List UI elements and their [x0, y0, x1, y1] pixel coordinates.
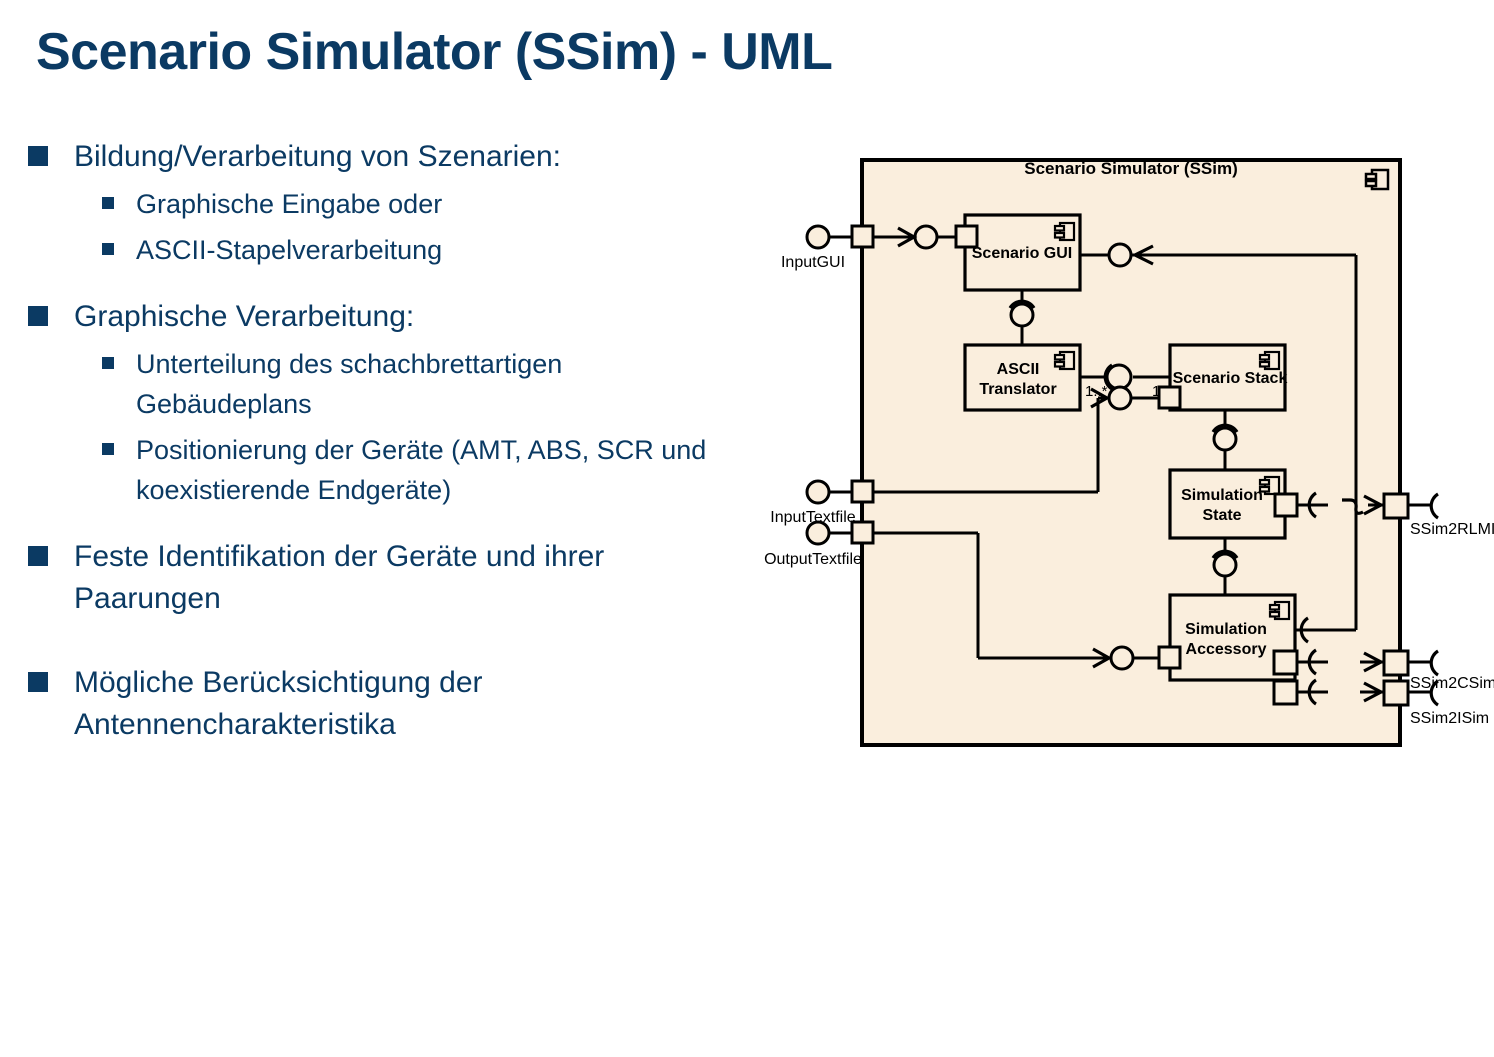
bullet-text: Feste Identifikation der Geräte und ihre…: [74, 536, 694, 620]
sub-bullet-marker-square-icon: [102, 243, 114, 255]
port-inputtextfile-boundary: [852, 481, 873, 502]
component-icon: [1055, 352, 1074, 369]
provided-interface-inputtextfile: [807, 481, 829, 503]
sub-bullet-marker-square-icon: [102, 197, 114, 209]
port-accessory-csim: [1274, 651, 1297, 674]
list-item: ASCII-Stapelverarbeitung: [102, 230, 748, 270]
port-label-ssim2isim: SSim2ISim: [1410, 710, 1489, 727]
port-label-inputtextfile: InputTextfile: [770, 509, 855, 526]
component-icon: [1055, 223, 1074, 240]
component-label-simulation-state-l1: Simulation: [1181, 487, 1263, 504]
provided-interface-state-accessory: [1214, 554, 1236, 576]
list-item: Mögliche Berücksichtigung der Antennench…: [28, 662, 748, 746]
required-socket-ssim2csim: [1431, 651, 1438, 675]
port-label-ssim2csim: SSim2CSim: [1410, 675, 1494, 692]
component-icon: [1260, 352, 1279, 369]
list-item: Positionierung der Geräte (AMT, ABS, SCR…: [102, 430, 748, 510]
port-label-inputgui: InputGUI: [781, 254, 845, 271]
bullet-group: Mögliche Berücksichtigung der Antennench…: [28, 662, 748, 746]
bullet-marker-square-icon: [28, 146, 48, 166]
multiplicity-ascii: 1..*: [1085, 383, 1108, 400]
port-state-out: [1275, 494, 1297, 516]
port-gui-in: [956, 226, 977, 247]
component-label-simulation-state-l2: State: [1202, 507, 1241, 524]
bullet-group: Feste Identifikation der Geräte und ihre…: [28, 536, 748, 620]
component-label-scenario-gui: Scenario GUI: [972, 245, 1072, 262]
component-label-simulation-accessory-l1: Simulation: [1185, 621, 1267, 638]
sub-bullet-text: Positionierung der Geräte (AMT, ABS, SCR…: [136, 430, 716, 510]
port-ssim2csim-boundary: [1384, 651, 1408, 675]
container-title: Scenario Simulator (SSim): [1024, 159, 1238, 178]
provided-interface-stack-state: [1214, 428, 1236, 450]
port-accessory-isim: [1274, 681, 1297, 704]
assembly-ball-inputtext-stack: [1109, 387, 1131, 409]
component-icon: [1366, 170, 1388, 189]
assembly-ball-ascii-stack: [1107, 365, 1131, 389]
required-socket-ssim2rlmint: [1431, 494, 1438, 518]
sub-bullet-marker-square-icon: [102, 443, 114, 455]
page-title: Scenario Simulator (SSim) - UML: [36, 22, 832, 82]
list-item: Bildung/Verarbeitung von Szenarien:: [28, 136, 748, 178]
component-label-ascii-translator-l2: Translator: [979, 381, 1056, 398]
bullet-text: Mögliche Berücksichtigung der Antennench…: [74, 662, 694, 746]
provided-interface-inputgui: [807, 226, 829, 248]
assembly-ball-inputgui: [915, 226, 937, 248]
list-item: Feste Identifikation der Geräte und ihre…: [28, 536, 748, 620]
port-label-ssim2rlmint: SSim2RLMInt: [1410, 521, 1494, 538]
sub-bullet-marker-square-icon: [102, 357, 114, 369]
list-item: Unterteilung des schachbrettartigen Gebä…: [102, 344, 748, 424]
component-label-simulation-accessory-l2: Accessory: [1186, 641, 1267, 658]
component-label-scenario-stack: Scenario Stack: [1173, 370, 1288, 387]
list-item: Graphische Verarbeitung:: [28, 296, 748, 338]
assembly-ball-outputtext-accessory: [1111, 647, 1133, 669]
assembly-ball-gui-right: [1109, 244, 1131, 266]
port-ssim2rlmint-boundary: [1384, 494, 1408, 518]
port-stack-in: [1159, 387, 1180, 408]
bullet-text: Graphische Verarbeitung:: [74, 296, 414, 338]
component-icon: [1270, 602, 1289, 619]
sub-bullet-text: Graphische Eingabe oder: [136, 184, 442, 224]
uml-component-diagram: Scenario Simulator (SSim) Scenario GUI A…: [760, 140, 1494, 780]
provided-interface-gui-ascii: [1011, 304, 1033, 326]
bullet-marker-square-icon: [28, 306, 48, 326]
bullet-group: Graphische Verarbeitung: Unterteilung de…: [28, 296, 748, 510]
sub-bullet-text: ASCII-Stapelverarbeitung: [136, 230, 442, 270]
list-item: Graphische Eingabe oder: [102, 184, 748, 224]
port-inputgui-boundary: [852, 226, 873, 247]
bullet-list: Bildung/Verarbeitung von Szenarien: Grap…: [28, 136, 748, 772]
bullet-group: Bildung/Verarbeitung von Szenarien: Grap…: [28, 136, 748, 270]
port-accessory-in: [1159, 647, 1180, 668]
port-label-outputtextfile: OutputTextfile: [764, 551, 862, 568]
port-ssim2isim-boundary: [1384, 681, 1408, 705]
bullet-marker-square-icon: [28, 672, 48, 692]
multiplicity-stack: 1: [1152, 383, 1160, 400]
component-label-ascii-translator-l1: ASCII: [997, 361, 1040, 378]
bullet-text: Bildung/Verarbeitung von Szenarien:: [74, 136, 561, 178]
sub-bullet-text: Unterteilung des schachbrettartigen Gebä…: [136, 344, 716, 424]
bullet-marker-square-icon: [28, 546, 48, 566]
